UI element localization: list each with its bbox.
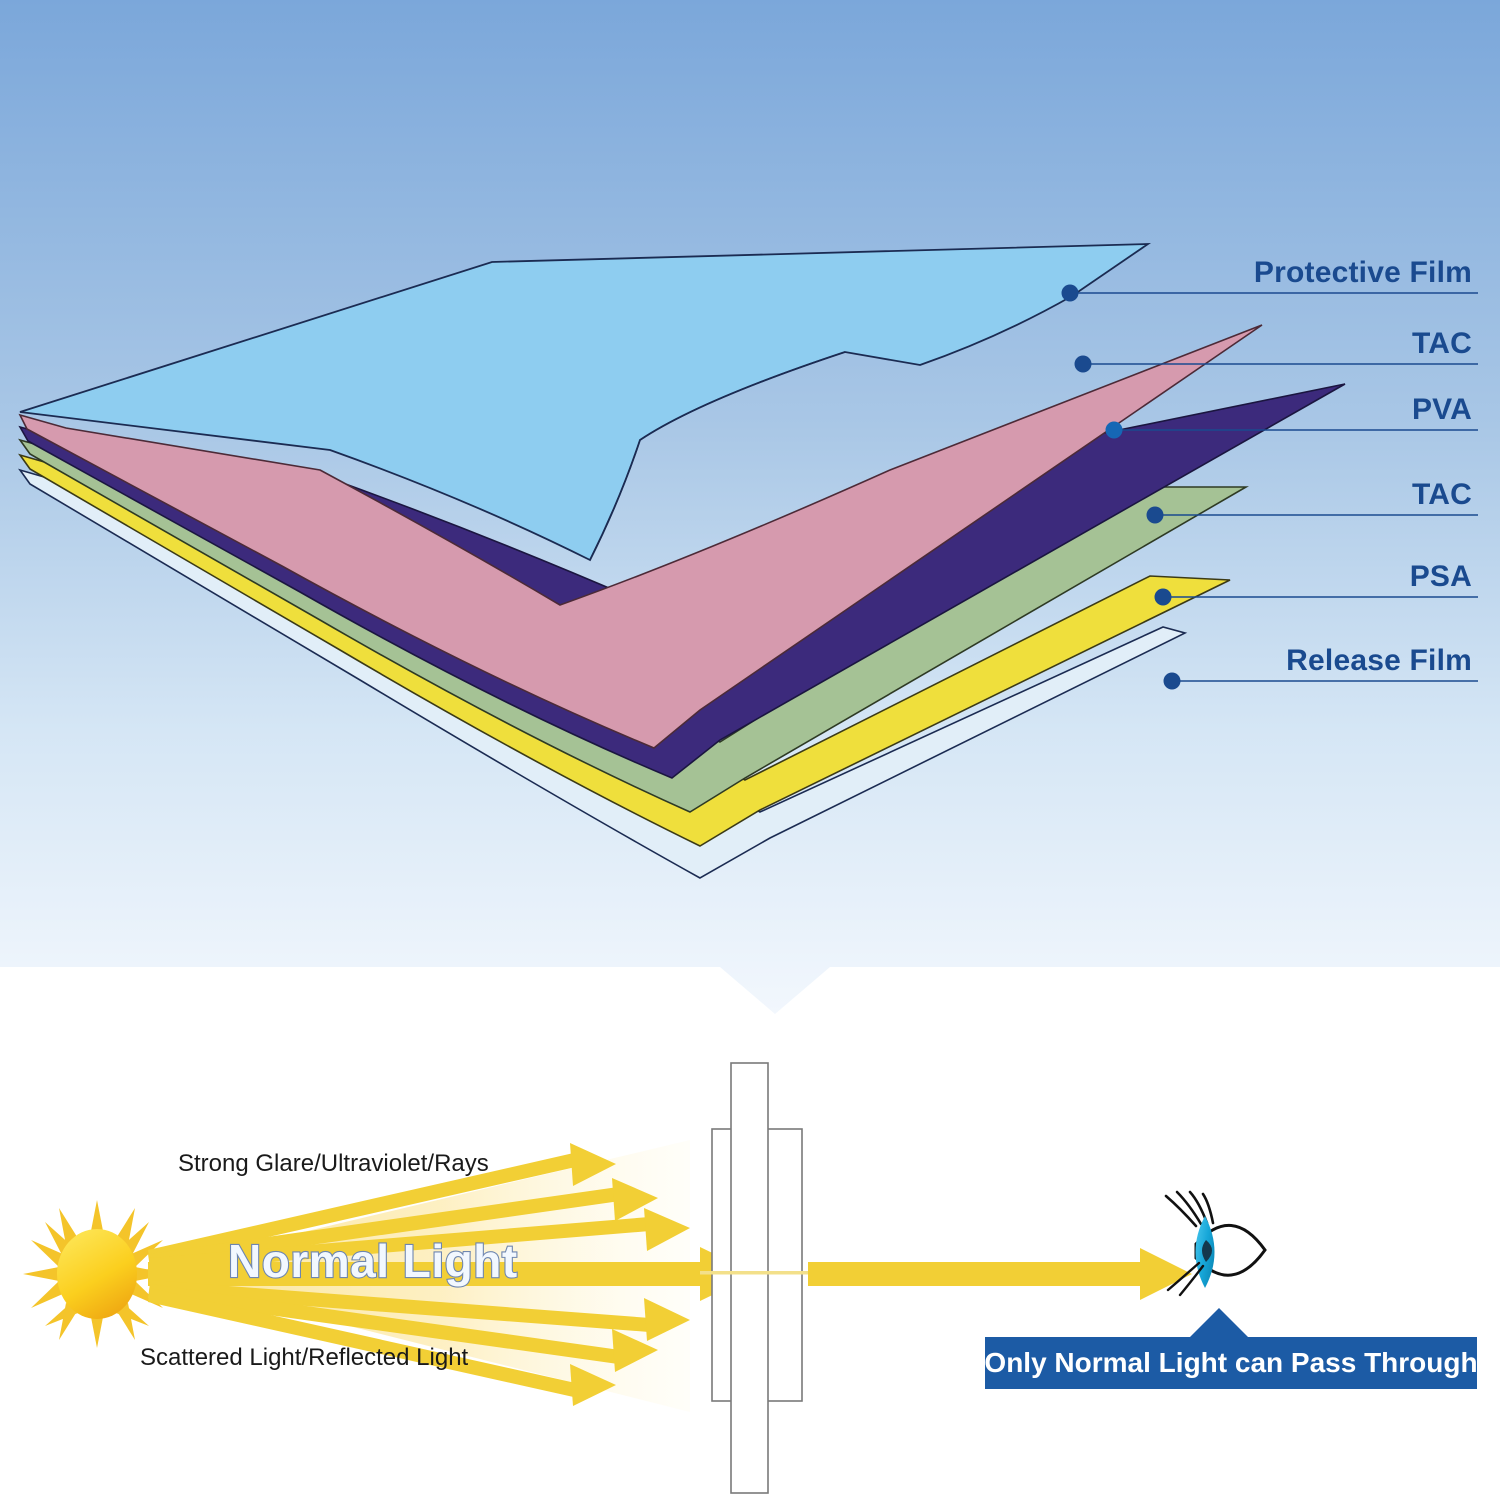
leader-dot-protective-film <box>1062 285 1079 302</box>
eye-icon <box>1166 1192 1265 1295</box>
diagram-canvas: Protective Film TAC PVA TAC PSA Release … <box>0 0 1500 1500</box>
triangle-up-icon <box>1189 1308 1249 1338</box>
leader-dot-pva <box>1106 422 1123 439</box>
layer-label-text: TAC <box>1412 478 1472 511</box>
layer-label-text: TAC <box>1412 327 1472 360</box>
upper-exploded-layer-diagram <box>0 0 1500 1500</box>
leader-dot-psa <box>1155 589 1172 606</box>
layer-label-text: Release Film <box>1286 644 1472 677</box>
layer-label-protective-film: Protective Film <box>1254 258 1472 288</box>
beam-label-normal-light: Normal Light <box>228 1238 518 1284</box>
callout-text: Only Normal Light can Pass Through <box>984 1349 1477 1377</box>
layer-label-psa: PSA <box>1410 562 1472 592</box>
layer-label-text: Protective Film <box>1254 256 1472 289</box>
layer-label-release-film: Release Film <box>1286 646 1472 676</box>
filter-panel <box>712 1063 802 1493</box>
layer-label-text: PSA <box>1410 560 1472 593</box>
layer-label-text: PVA <box>1412 393 1472 426</box>
leader-dot-tac-bottom <box>1147 507 1164 524</box>
caption-strong-glare: Strong Glare/Ultraviolet/Rays <box>178 1152 489 1176</box>
layer-label-tac-top: TAC <box>1412 329 1472 359</box>
caption-scattered-light: Scattered Light/Reflected Light <box>140 1346 468 1370</box>
leader-dot-tac-top <box>1075 356 1092 373</box>
layer-label-tac-bottom: TAC <box>1412 480 1472 510</box>
layer-label-pva: PVA <box>1412 395 1472 425</box>
callout-only-normal-light: Only Normal Light can Pass Through <box>985 1337 1477 1389</box>
leader-dot-release-film <box>1164 673 1181 690</box>
